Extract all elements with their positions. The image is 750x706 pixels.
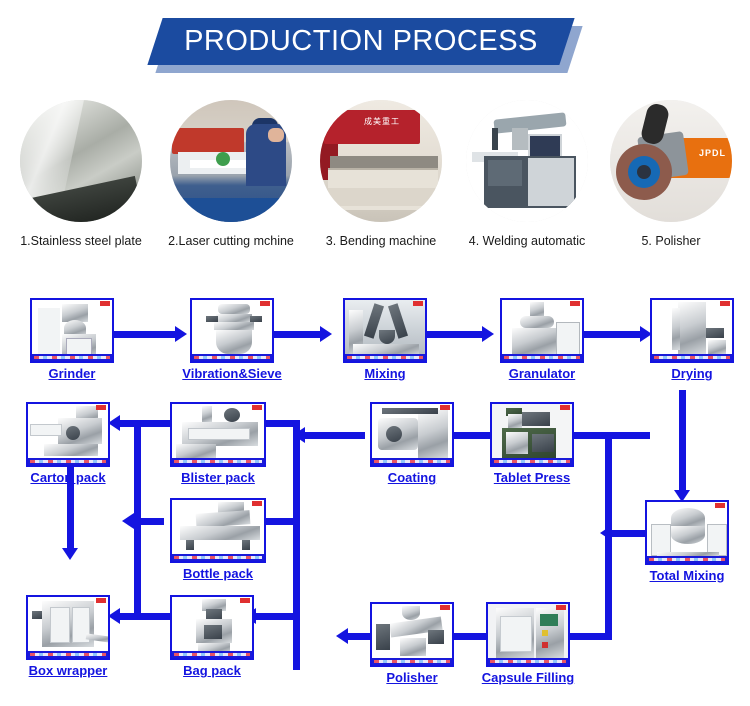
thumbnail-tag: [96, 405, 106, 410]
granulator-thumbnail: [500, 298, 584, 363]
arrowhead-to-granulator: [482, 326, 494, 342]
process-photo-caption-1: 1.Stainless steel plate: [6, 234, 156, 248]
connector-bus-to-tablet-press: [570, 432, 610, 439]
thumbnail-tag: [556, 605, 566, 610]
welding-automatic-photo: [466, 100, 588, 222]
node-label-drying: Drying: [671, 366, 712, 381]
process-photo-item-3: 成美重工 3. Bending machine: [306, 100, 456, 248]
packing-bus-vertical: [293, 432, 300, 670]
thumbnail-tag: [440, 405, 450, 410]
node-box-wrapper[interactable]: Box wrapper: [26, 595, 110, 660]
connector-granulator-to-drying: [578, 331, 640, 338]
bus-stub-tablet-press: [605, 432, 650, 439]
tablet-press-thumbnail: [490, 402, 574, 467]
watermark-bar: [172, 651, 252, 658]
thumbnail-tag: [720, 301, 730, 306]
connector-bus-to-bag-pack: [256, 613, 300, 620]
node-label-box-wrapper: Box wrapper: [29, 663, 108, 678]
arrowhead-box-wrapper-top: [62, 548, 78, 560]
page-title: PRODUCTION PROCESS: [155, 18, 567, 65]
node-label-grinder: Grinder: [49, 366, 96, 381]
box-wrapper-thumbnail: [26, 595, 110, 660]
node-granulator[interactable]: Granulator: [500, 298, 584, 363]
thumbnail-tag: [413, 301, 423, 306]
thumbnail-tag: [570, 301, 580, 306]
watermark-bar: [372, 458, 452, 465]
thumbnail-tag: [96, 598, 106, 603]
node-drying[interactable]: Drying: [650, 298, 734, 363]
connector-carton-inlet: [115, 420, 140, 427]
node-label-total-mixing: Total Mixing: [650, 568, 725, 583]
arrowhead-bottle-out: [122, 513, 134, 529]
carton-pack-thumbnail: [26, 402, 110, 467]
bottle-pack-thumbnail: [170, 498, 266, 563]
process-photo-caption-4: 4. Welding automatic: [452, 234, 602, 248]
connector-coating-to-left-bus: [305, 432, 365, 439]
node-label-polisher: Polisher: [386, 670, 437, 685]
mixing-thumbnail: [343, 298, 427, 363]
polisher-thumbnail: [370, 602, 454, 667]
node-label-mixing: Mixing: [364, 366, 405, 381]
vibration-sieve-thumbnail: [190, 298, 274, 363]
node-total-mixing[interactable]: Total Mixing: [645, 500, 729, 565]
process-photo-item-4: 4. Welding automatic: [452, 100, 602, 248]
connector-drying-to-total-mixing: [679, 390, 686, 493]
watermark-bar: [647, 556, 727, 563]
process-photo-row: 1.Stainless steel plate 2.Laser cutting …: [0, 100, 750, 280]
node-label-carton-pack: Carton pack: [30, 470, 105, 485]
watermark-bar: [28, 458, 108, 465]
node-label-tablet-press: Tablet Press: [494, 470, 570, 485]
arrowhead-to-mixing: [320, 326, 332, 342]
watermark-bar: [488, 658, 568, 665]
process-photo-caption-2: 2.Laser cutting mchine: [156, 234, 306, 248]
watermark-bar: [502, 354, 582, 361]
node-capsule-filling[interactable]: Capsule Filling: [486, 602, 570, 667]
node-grinder[interactable]: Grinder: [30, 298, 114, 363]
thumbnail-tag: [240, 598, 250, 603]
node-tablet-press[interactable]: Tablet Press: [490, 402, 574, 467]
production-flowchart: Grinder Vibration&Sieve: [0, 290, 750, 690]
thumbnail-tag: [252, 501, 262, 506]
node-blister-pack[interactable]: Blister pack: [170, 402, 266, 467]
total-mixing-thumbnail: [645, 500, 729, 565]
process-photo-item-5: JPDL 5. Polisher: [596, 100, 746, 248]
node-label-coating: Coating: [388, 470, 436, 485]
thumbnail-tag: [252, 405, 262, 410]
node-polisher[interactable]: Polisher: [370, 602, 454, 667]
laser-cutting-machine-photo: [170, 100, 292, 222]
bus-vertical-right-lower: [605, 530, 612, 640]
node-bag-pack[interactable]: Bag pack: [170, 595, 254, 660]
polisher-photo: JPDL: [610, 100, 732, 222]
watermark-bar: [372, 658, 452, 665]
node-carton-pack[interactable]: Carton pack: [26, 402, 110, 467]
node-label-bag-pack: Bag pack: [183, 663, 241, 678]
stainless-plate-photo: [20, 100, 142, 222]
bus-vertical-right-upper: [605, 432, 612, 537]
connector-mixing-to-granulator: [420, 331, 482, 338]
drying-thumbnail: [650, 298, 734, 363]
blister-pack-thumbnail: [170, 402, 266, 467]
connector-grinder-to-vibration: [113, 331, 175, 338]
arrowhead-polisher-out: [336, 628, 348, 644]
node-mixing[interactable]: Mixing: [343, 298, 427, 363]
watermark-bar: [345, 354, 425, 361]
page-title-banner: PRODUCTION PROCESS: [155, 18, 575, 73]
node-coating[interactable]: Coating: [370, 402, 454, 467]
watermark-bar: [32, 354, 112, 361]
process-photo-caption-5: 5. Polisher: [596, 234, 746, 248]
thumbnail-tag: [440, 605, 450, 610]
coating-thumbnail: [370, 402, 454, 467]
node-label-blister-pack: Blister pack: [181, 470, 255, 485]
node-label-vibration-sieve: Vibration&Sieve: [182, 366, 281, 381]
bag-pack-thumbnail: [170, 595, 254, 660]
node-label-granulator: Granulator: [509, 366, 575, 381]
thumbnail-tag: [260, 301, 270, 306]
watermark-bar: [172, 458, 264, 465]
arrowhead-to-vibration: [175, 326, 187, 342]
process-photo-item-2: 2.Laser cutting mchine: [156, 100, 306, 248]
process-photo-item-1: 1.Stainless steel plate: [6, 100, 156, 248]
connector-box-wrapper-inlet: [115, 613, 140, 620]
node-bottle-pack[interactable]: Bottle pack: [170, 498, 266, 563]
thumbnail-tag: [715, 503, 725, 508]
connector-bottle-to-bus: [134, 518, 164, 525]
thumbnail-tag: [560, 405, 570, 410]
bending-machine-photo: 成美重工: [320, 100, 442, 222]
watermark-bar: [492, 458, 572, 465]
process-photo-caption-3: 3. Bending machine: [306, 234, 456, 248]
watermark-bar: [172, 554, 264, 561]
capsule-filling-thumbnail: [486, 602, 570, 667]
grinder-thumbnail: [30, 298, 114, 363]
thumbnail-tag: [100, 301, 110, 306]
watermark-bar: [28, 651, 108, 658]
watermark-bar: [652, 354, 732, 361]
node-label-capsule-filling: Capsule Filling: [482, 670, 574, 685]
watermark-bar: [192, 354, 272, 361]
node-vibration-sieve[interactable]: Vibration&Sieve: [190, 298, 274, 363]
node-label-bottle-pack: Bottle pack: [183, 566, 253, 581]
